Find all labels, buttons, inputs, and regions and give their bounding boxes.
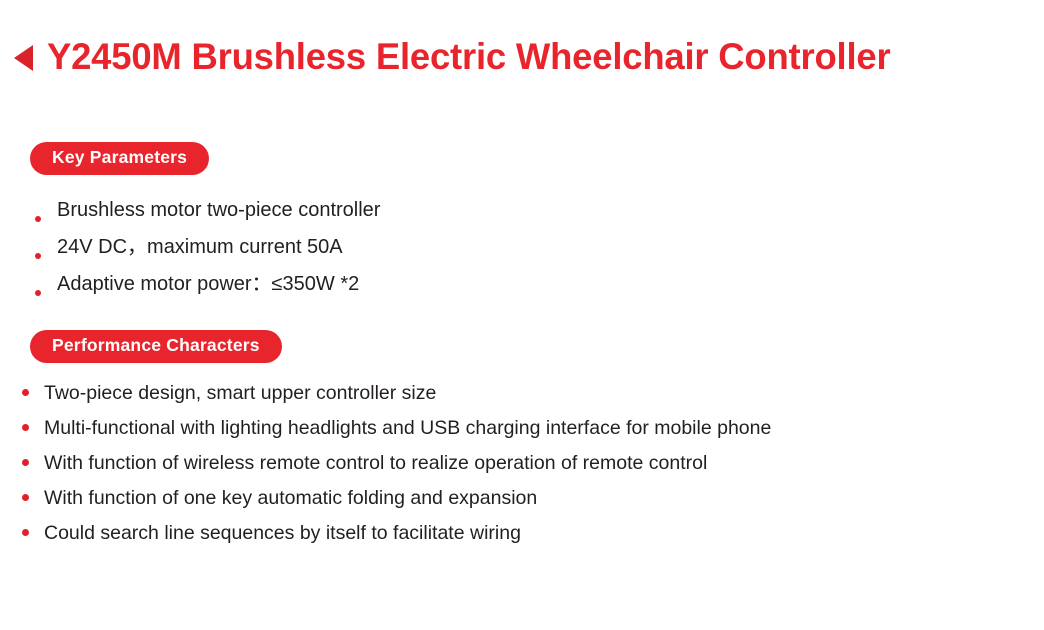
list-item: With function of wireless remote control… xyxy=(22,446,890,481)
list-item: 24V DC，maximum current 50A xyxy=(33,229,380,266)
bullet-dot-icon xyxy=(22,424,29,431)
list-item-text: Two-piece design, smart upper controller… xyxy=(44,382,436,404)
bullet-dot-icon xyxy=(22,494,29,501)
list-item: Adaptive motor power：≤350W *2 xyxy=(33,266,380,303)
bullet-dot-icon xyxy=(35,290,41,296)
list-item-text: Multi-functional with lighting headlight… xyxy=(44,417,771,439)
list-item-text: 24V DC，maximum current 50A xyxy=(57,236,343,258)
list-item: Brushless motor two-piece controller xyxy=(33,192,380,229)
bullet-dot-icon xyxy=(22,459,29,466)
bullet-dot-icon xyxy=(35,253,41,259)
list-item: With function of one key automatic foldi… xyxy=(22,481,890,516)
key-parameters-list: Brushless motor two-piece controller 24V… xyxy=(33,192,380,303)
page-title-text: Y2450M Brushless Electric Wheelchair Con… xyxy=(47,38,890,77)
left-triangle-icon xyxy=(14,45,33,71)
list-item: Multi-functional with lighting headlight… xyxy=(22,411,890,446)
page-title: Y2450M Brushless Electric Wheelchair Con… xyxy=(14,38,903,77)
bullet-dot-icon xyxy=(35,216,41,222)
product-spec-slide: Y2450M Brushless Electric Wheelchair Con… xyxy=(0,0,1044,630)
list-item-text: With function of one key automatic foldi… xyxy=(44,487,537,509)
performance-characters-list: Two-piece design, smart upper controller… xyxy=(22,376,890,551)
section-badge-performance-characters: Performance Characters xyxy=(30,330,282,363)
list-item: Two-piece design, smart upper controller… xyxy=(22,376,890,411)
list-item: Could search line sequences by itself to… xyxy=(22,516,890,551)
list-item-text: Could search line sequences by itself to… xyxy=(44,522,521,544)
list-item-text: Adaptive motor power：≤350W *2 xyxy=(57,273,359,295)
section-badge-key-parameters: Key Parameters xyxy=(30,142,209,175)
bullet-dot-icon xyxy=(22,389,29,396)
bullet-dot-icon xyxy=(22,529,29,536)
list-item-text: With function of wireless remote control… xyxy=(44,452,707,474)
list-item-text: Brushless motor two-piece controller xyxy=(57,199,380,221)
